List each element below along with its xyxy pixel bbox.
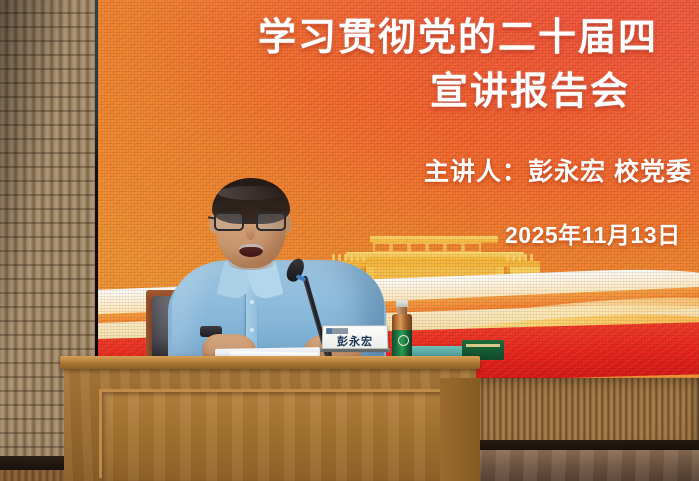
back-wall-slats bbox=[466, 372, 699, 444]
shirt-button bbox=[250, 328, 254, 332]
chin bbox=[228, 256, 274, 270]
lecture-hall-photo: 学习贯彻党的二十届四 宣讲报告会 主讲人：彭永宏 校党委 2025年11月13日 bbox=[0, 0, 699, 481]
nameplate: 彭永宏 bbox=[322, 325, 389, 349]
glasses-temple bbox=[208, 216, 216, 219]
backdrop-speaker-line: 主讲人：彭永宏 校党委 bbox=[424, 152, 699, 188]
nameplate-name: 彭永宏 bbox=[323, 333, 388, 349]
backdrop-title-line-1: 学习贯彻党的二十届四 bbox=[258, 6, 699, 61]
glasses-lens-left bbox=[214, 212, 244, 231]
backdrop-title-line-2: 宣讲报告会 bbox=[430, 60, 699, 115]
glasses-lens-right bbox=[256, 212, 286, 231]
backdrop-date-line: 2025年11月13日 bbox=[505, 216, 699, 250]
shirt-button bbox=[250, 300, 254, 304]
bottle-label bbox=[392, 330, 412, 358]
green-tea-bottle bbox=[391, 300, 413, 360]
podium-desktop-edge bbox=[60, 356, 480, 369]
nose bbox=[246, 226, 255, 240]
glasses-bridge bbox=[244, 219, 256, 221]
podium-side-face bbox=[440, 378, 480, 481]
podium-recessed-panel bbox=[102, 392, 462, 481]
